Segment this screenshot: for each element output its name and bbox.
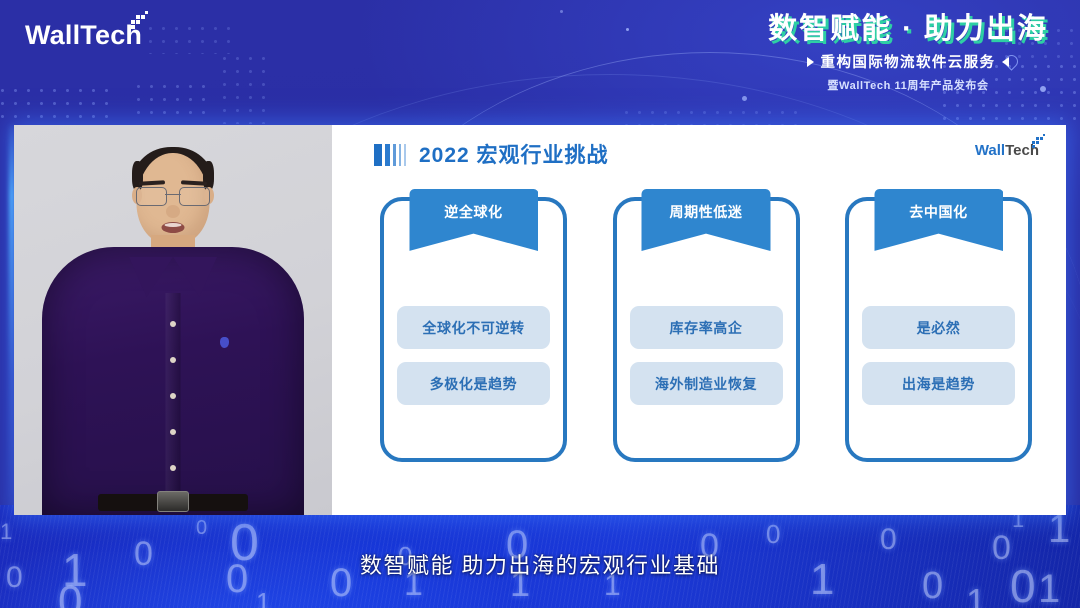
- card-ribbon: 周期性低迷: [642, 189, 771, 251]
- challenge-card[interactable]: 周期性低迷 库存率高企 海外制造业恢复: [613, 197, 800, 462]
- shirt-button: [170, 357, 176, 363]
- binary-digit: 1: [256, 587, 270, 608]
- card-items: 是必然 出海是趋势: [862, 306, 1015, 418]
- brand-logo-text: WallTech: [25, 22, 142, 49]
- triangle-left-icon: [1002, 57, 1009, 67]
- challenge-cards: 逆全球化 全球化不可逆转 多极化是趋势 周期性低迷: [380, 197, 1032, 462]
- presenter-figure: [14, 125, 332, 515]
- walltech-dots-icon: [1032, 139, 1044, 151]
- challenge-card[interactable]: 逆全球化 全球化不可逆转 多极化是趋势: [380, 197, 567, 462]
- event-note: 暨WallTech 11周年产品发布会: [758, 77, 1058, 93]
- challenge-card[interactable]: 去中国化 是必然 出海是趋势: [845, 197, 1032, 462]
- slide-brand-logo: Wall Tech: [975, 143, 1044, 158]
- card-ribbon: 去中国化: [874, 189, 1003, 251]
- card-item[interactable]: 全球化不可逆转: [397, 306, 550, 349]
- dot-grid-mid: [132, 80, 210, 124]
- card-ribbon: 逆全球化: [409, 189, 538, 251]
- card-ribbon-label: 逆全球化: [444, 202, 502, 222]
- card-item-label: 出海是趋势: [902, 374, 975, 394]
- event-title: 数智赋能 · 助力出海: [758, 14, 1058, 45]
- binary-digit: 0: [766, 519, 780, 550]
- event-subtitle: 重构国际物流软件云服务: [821, 51, 996, 72]
- dot-grid-upper: [144, 22, 234, 54]
- binary-digit: 1: [0, 519, 12, 545]
- slide-header: 2022 宏观行业挑战: [374, 139, 609, 169]
- event-subtitle-row: 重构国际物流软件云服务: [758, 51, 1058, 72]
- card-ribbon-label: 周期性低迷: [670, 202, 743, 222]
- card-item[interactable]: 海外制造业恢复: [630, 362, 783, 405]
- binary-digit: 0: [196, 517, 207, 540]
- belt-buckle: [157, 491, 189, 512]
- content-area: 2022 宏观行业挑战 Wall Tech 逆全球化: [14, 125, 1066, 515]
- binary-digit: 1: [966, 581, 986, 608]
- event-title-block: 数智赋能 · 助力出海 重构国际物流软件云服务 暨WallTech 11周年产品…: [758, 14, 1058, 93]
- shirt-button: [170, 465, 176, 471]
- shirt-button: [170, 429, 176, 435]
- card-item[interactable]: 库存率高企: [630, 306, 783, 349]
- card-items: 库存率高企 海外制造业恢复: [630, 306, 783, 418]
- presentation-slide: 2022 宏观行业挑战 Wall Tech 逆全球化: [332, 125, 1066, 515]
- card-item-label: 海外制造业恢复: [655, 374, 757, 394]
- card-item-label: 多极化是趋势: [430, 374, 518, 394]
- card-ribbon-label: 去中国化: [909, 202, 967, 222]
- brand-logo: WallTech: [25, 22, 149, 49]
- bar-chart-icon: [374, 142, 406, 166]
- card-item[interactable]: 出海是趋势: [862, 362, 1015, 405]
- walltech-dots-icon: [131, 17, 149, 35]
- nose: [166, 205, 180, 218]
- binary-digit: 0: [58, 577, 82, 608]
- shirt-button: [170, 321, 176, 327]
- spark-dot: [626, 28, 629, 31]
- card-item-label: 全球化不可逆转: [422, 318, 524, 338]
- card-item-label: 是必然: [917, 318, 961, 338]
- presenter-video[interactable]: [14, 125, 332, 515]
- glasses-icon: [136, 187, 210, 205]
- card-item[interactable]: 是必然: [862, 306, 1015, 349]
- lens-left: [136, 187, 167, 206]
- card-item[interactable]: 多极化是趋势: [397, 362, 550, 405]
- slide-logo-primary: Wall: [975, 143, 1005, 158]
- card-item-label: 库存率高企: [670, 318, 743, 338]
- lens-right: [179, 187, 210, 206]
- dot-grid-left: [0, 84, 116, 124]
- card-items: 全球化不可逆转 多极化是趋势: [397, 306, 550, 418]
- caption-text: 数智赋能 助力出海的宏观行业基础: [0, 548, 1080, 580]
- slide-title: 2022 宏观行业挑战: [419, 139, 609, 169]
- shirt-button: [170, 393, 176, 399]
- spark-dot: [560, 10, 563, 13]
- mouth: [162, 222, 185, 233]
- dot-grid-mid2: [218, 52, 270, 124]
- shirt-embroidery-icon: [220, 337, 229, 348]
- screen: WallTech 数智赋能 · 助力出海 重构国际物流软件云服务 暨WallTe…: [0, 0, 1080, 608]
- spark-dot: [742, 96, 747, 101]
- triangle-right-icon: [807, 57, 814, 67]
